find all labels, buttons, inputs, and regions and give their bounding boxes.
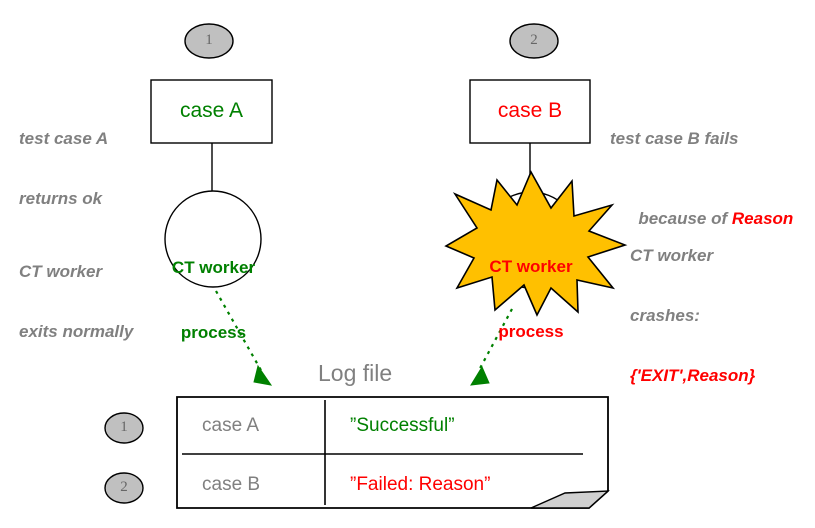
log-file-title: Log file (318, 360, 458, 387)
log-row-2-result: ”Failed: Reason” (350, 474, 580, 496)
case-a-box-label: case A (151, 99, 272, 124)
note-ct-worker-crashes-line2: crashes: (630, 306, 810, 326)
process-circle-label: CT worker process (165, 213, 262, 387)
explosion-star-label: CT worker process (478, 212, 584, 386)
note-ct-worker-crashes: CT worker crashes: {'EXIT',Reason} (630, 206, 810, 427)
note-ct-worker-exits-line1: CT worker (19, 262, 161, 282)
note-ct-worker-crashes-line1: CT worker (630, 246, 810, 266)
note-test-case-b-line1: test case B fails (610, 129, 810, 149)
diagram-canvas: 1 2 1 2 test case A returns ok case A CT… (0, 0, 815, 528)
note-test-case-a-line2: returns ok (19, 189, 144, 209)
case-b-box-label: case B (470, 99, 590, 124)
log-badge-1-label: 1 (114, 419, 134, 436)
log-row-1-case: case A (202, 415, 312, 437)
badge-1-label: 1 (199, 32, 219, 49)
note-ct-worker-exits: CT worker exits normally (19, 222, 161, 382)
process-circle-label-line1: CT worker (165, 257, 262, 279)
note-test-case-a-line1: test case A (19, 129, 144, 149)
log-badge-2-label: 2 (114, 479, 134, 496)
explosion-star-label-line1: CT worker (478, 256, 584, 278)
log-row-2-case: case B (202, 474, 312, 496)
explosion-star-label-line2: process (478, 321, 584, 343)
process-circle-label-line2: process (165, 322, 262, 344)
badge-2-label: 2 (524, 32, 544, 49)
log-row-1-result: ”Successful” (350, 415, 580, 437)
note-ct-worker-crashes-exit: {'EXIT',Reason} (630, 366, 810, 386)
note-ct-worker-exits-line2: exits normally (19, 322, 161, 342)
